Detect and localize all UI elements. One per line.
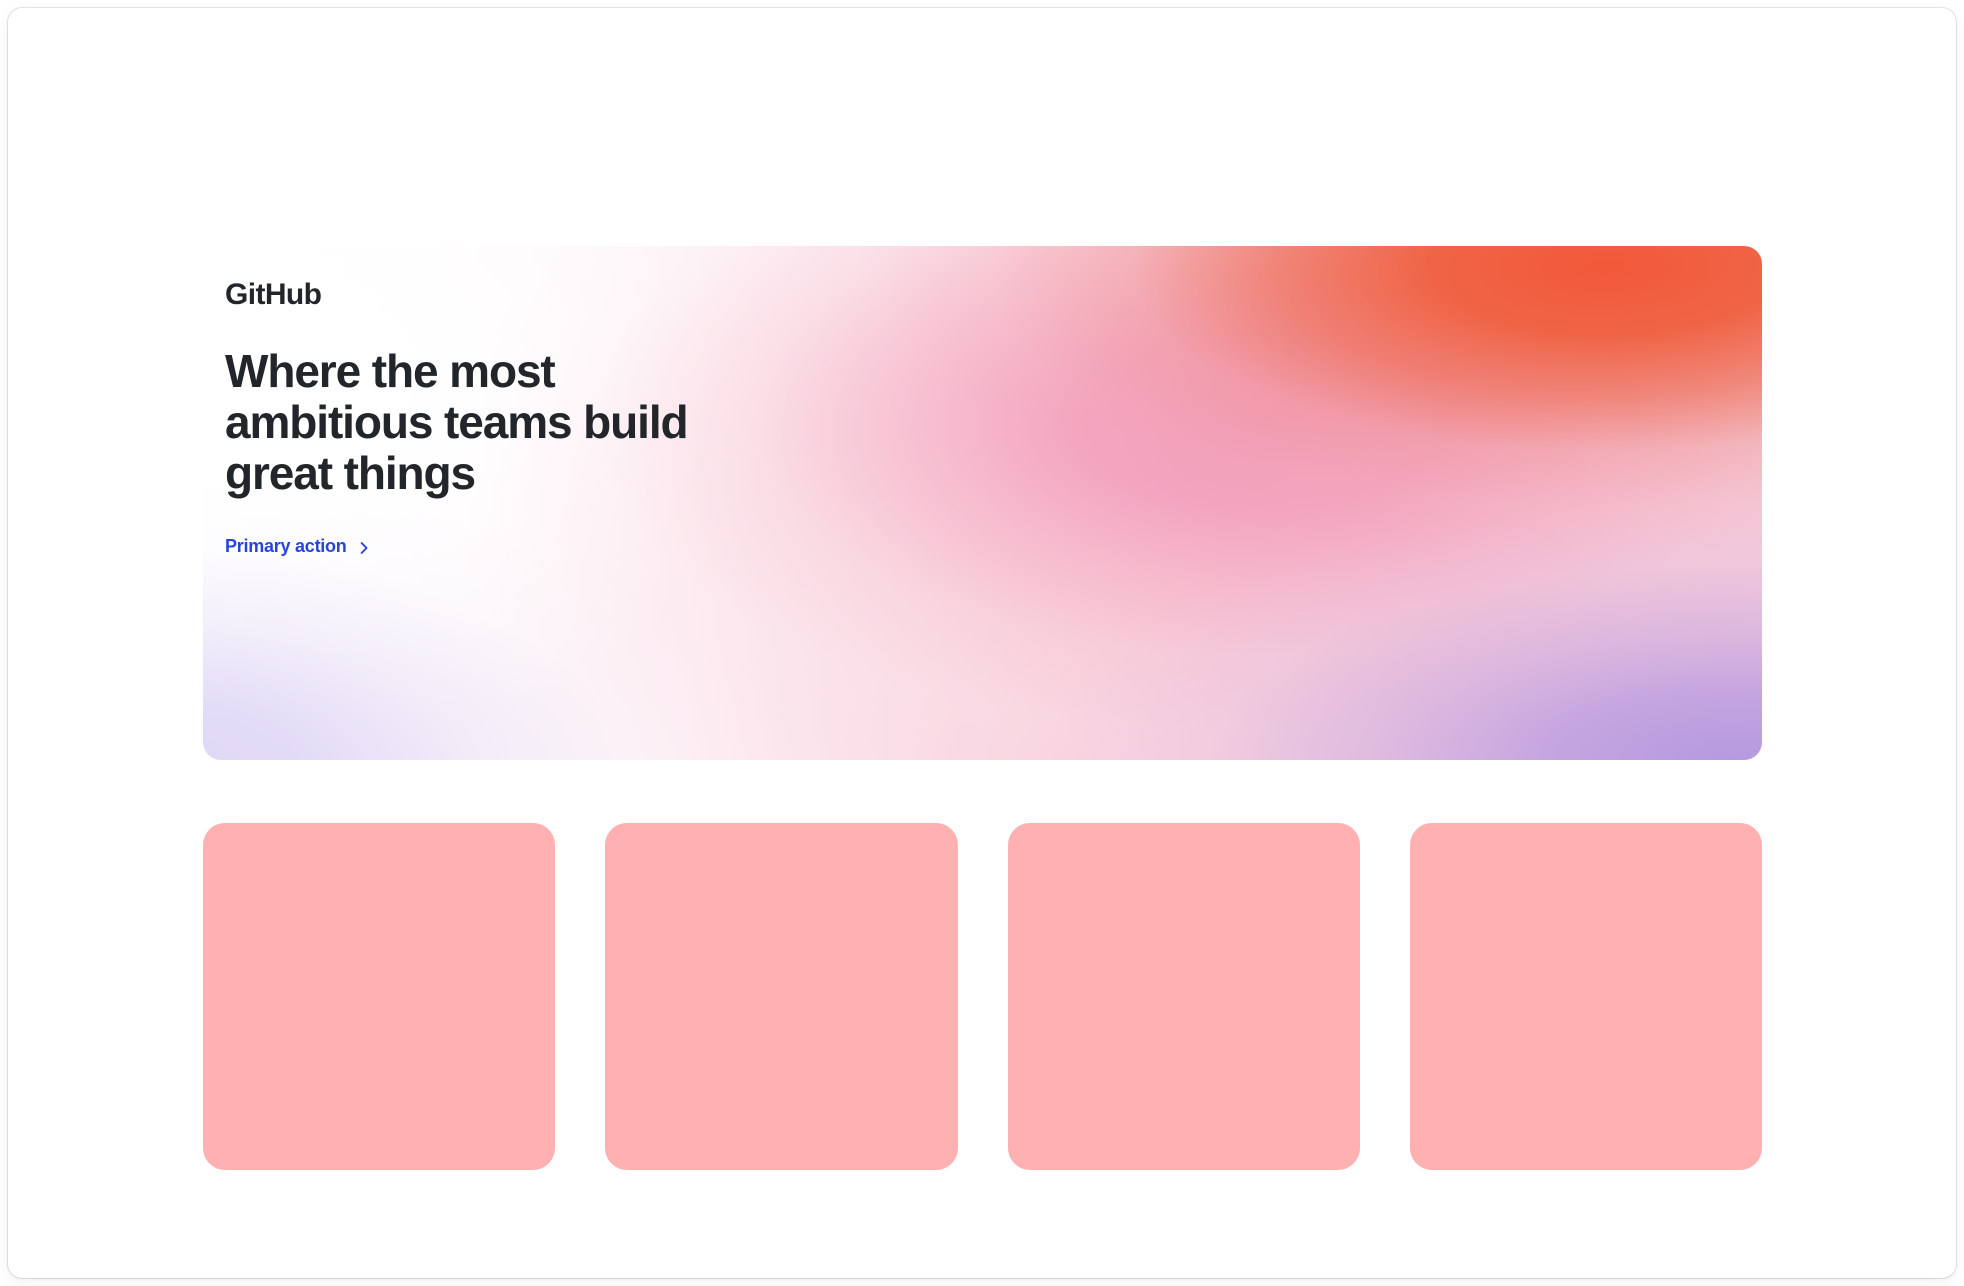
hero-headline-line-1: Where the most (225, 346, 845, 397)
placeholder-card-3[interactable] (1008, 823, 1360, 1170)
placeholder-card-1[interactable] (203, 823, 555, 1170)
hero-content: GitHub Where the most ambitious teams bu… (225, 246, 1125, 760)
primary-action-link[interactable]: Primary action (225, 536, 371, 557)
hero-headline-line-3: great things (225, 448, 845, 499)
chevron-right-icon (357, 541, 371, 555)
placeholder-card-4[interactable] (1410, 823, 1762, 1170)
hero-headline-line-2: ambitious teams build (225, 397, 845, 448)
placeholder-card-2[interactable] (605, 823, 957, 1170)
hero-headline: Where the most ambitious teams build gre… (225, 346, 845, 499)
github-wordmark: GitHub (225, 280, 321, 310)
placeholder-card-row (203, 823, 1762, 1170)
primary-action-label: Primary action (225, 536, 347, 557)
page-frame: GitHub Where the most ambitious teams bu… (8, 8, 1956, 1278)
hero-banner: GitHub Where the most ambitious teams bu… (203, 246, 1762, 760)
